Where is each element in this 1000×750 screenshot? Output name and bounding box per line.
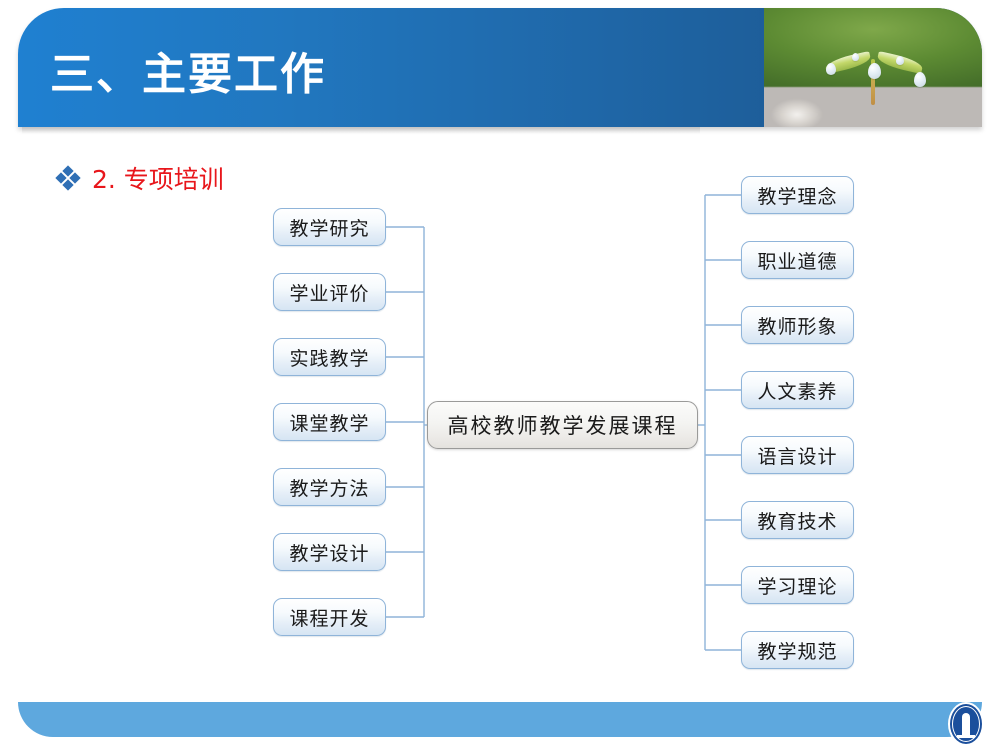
section-bullet-row: 2. 专项培训 bbox=[57, 160, 224, 196]
node-label: 教师形象 bbox=[757, 312, 837, 339]
slide-header-banner: 三、主要工作 bbox=[18, 8, 982, 127]
right-node-1[interactable]: 教学理念 bbox=[741, 176, 854, 214]
node-label: 职业道德 bbox=[757, 247, 837, 274]
left-node-3[interactable]: 实践教学 bbox=[273, 338, 386, 376]
left-node-4[interactable]: 课堂教学 bbox=[273, 403, 386, 441]
right-node-6[interactable]: 教育技术 bbox=[741, 501, 854, 539]
right-node-2[interactable]: 职业道德 bbox=[741, 241, 854, 279]
photo-waterdrop bbox=[868, 63, 881, 79]
node-label: 教学研究 bbox=[289, 214, 369, 241]
photo-waterdrop bbox=[914, 72, 926, 87]
section-bullet-label: 2. 专项培训 bbox=[92, 160, 224, 196]
right-node-7[interactable]: 学习理论 bbox=[741, 566, 854, 604]
node-label: 教学方法 bbox=[289, 474, 369, 501]
left-node-1[interactable]: 教学研究 bbox=[273, 208, 386, 246]
node-label: 教学设计 bbox=[289, 539, 369, 566]
right-node-8[interactable]: 教学规范 bbox=[741, 631, 854, 669]
right-node-5[interactable]: 语言设计 bbox=[741, 436, 854, 474]
right-node-4[interactable]: 人文素养 bbox=[741, 371, 854, 409]
right-node-3[interactable]: 教师形象 bbox=[741, 306, 854, 344]
left-node-2[interactable]: 学业评价 bbox=[273, 273, 386, 311]
left-node-6[interactable]: 教学设计 bbox=[273, 533, 386, 571]
header-shadow-divider bbox=[22, 127, 700, 134]
node-label: 人文素养 bbox=[757, 377, 837, 404]
left-node-7[interactable]: 课程开发 bbox=[273, 598, 386, 636]
node-label: 语言设计 bbox=[757, 442, 837, 469]
node-label: 教育技术 bbox=[757, 507, 837, 534]
node-label: 学业评价 bbox=[289, 279, 369, 306]
center-node[interactable]: 高校教师教学发展课程 bbox=[427, 401, 698, 449]
photo-waterdrop bbox=[896, 56, 904, 65]
page-title: 三、主要工作 bbox=[50, 38, 326, 102]
node-label: 实践教学 bbox=[289, 344, 369, 371]
node-label: 教学理念 bbox=[757, 182, 837, 209]
node-label: 高校教师教学发展课程 bbox=[448, 410, 678, 440]
node-label: 课堂教学 bbox=[289, 409, 369, 436]
node-label: 教学规范 bbox=[757, 637, 837, 664]
node-label: 学习理论 bbox=[757, 572, 837, 599]
footer-bar bbox=[18, 702, 982, 737]
node-label: 课程开发 bbox=[289, 604, 369, 631]
diamond-bullet-icon bbox=[57, 167, 79, 189]
photo-waterdrop bbox=[852, 53, 859, 61]
photo-waterdrop bbox=[826, 63, 836, 75]
left-node-5[interactable]: 教学方法 bbox=[273, 468, 386, 506]
seedling-photo bbox=[764, 8, 982, 127]
university-emblem-icon bbox=[948, 702, 984, 746]
